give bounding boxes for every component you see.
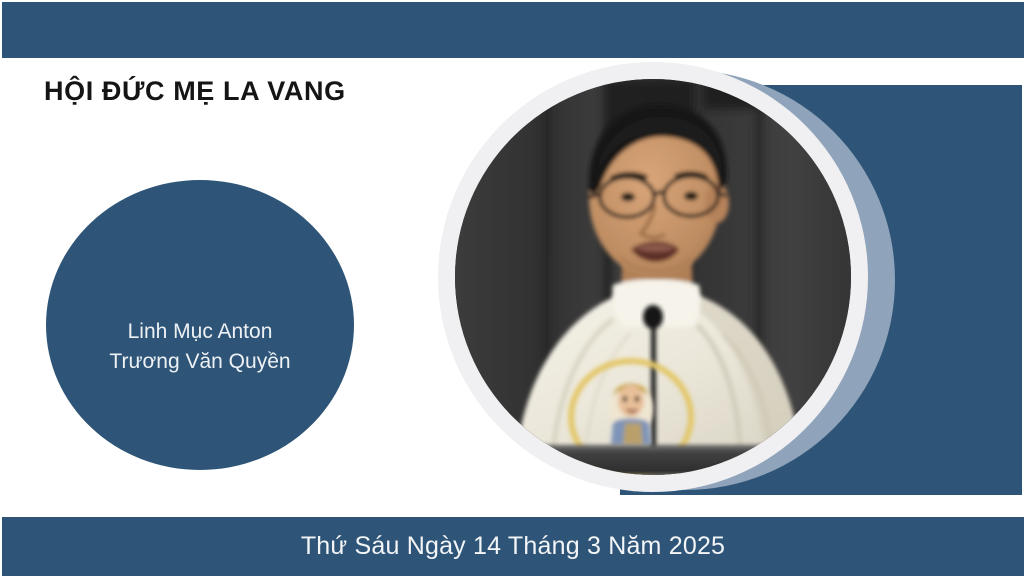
photo-composition [420, 58, 1024, 518]
speaker-name-block: Linh Mục Anton Trương Văn Quyền [109, 317, 290, 377]
priest-portrait-photo [455, 79, 851, 475]
speaker-name-line-2: Trương Văn Quyền [109, 347, 290, 377]
speaker-name-line-1: Linh Mục Anton [109, 317, 290, 347]
presentation-slide: HỘI ĐỨC MẸ LA VANG Linh Mục Anton Trương… [0, 0, 1024, 576]
date-text: Thứ Sáu Ngày 14 Tháng 3 Năm 2025 [301, 532, 725, 561]
speaker-name-circle: Linh Mục Anton Trương Văn Quyền [46, 180, 354, 470]
top-banner-bar [2, 2, 1024, 58]
page-title: HỘI ĐỨC MẸ LA VANG [44, 76, 346, 107]
bottom-banner-bar: Thứ Sáu Ngày 14 Tháng 3 Năm 2025 [2, 517, 1024, 576]
